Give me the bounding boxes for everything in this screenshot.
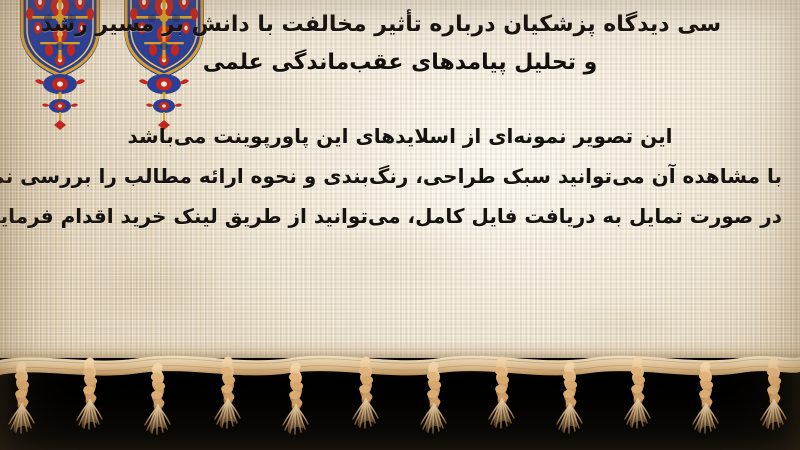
body-line-3: در صورت تمایل به دریافت فایل کامل، می‌تو… (18, 196, 782, 236)
title-line-2: و تحلیل پیامدهای عقب‌ماندگی علمی (14, 44, 786, 82)
knotted-tassel-fringe (0, 346, 800, 392)
presentation-slide: سی دیدگاه پزشکیان درباره تأثیر مخالفت با… (0, 0, 800, 450)
body-line-2: با مشاهده آن می‌توانید سبک طراحی، رنگ‌بن… (18, 156, 782, 196)
slide-title: سی دیدگاه پزشکیان درباره تأثیر مخالفت با… (0, 6, 800, 82)
title-line-1: سی دیدگاه پزشکیان درباره تأثیر مخالفت با… (14, 6, 748, 44)
slide-body: این تصویر نمونه‌ای از اسلایدهای این پاور… (0, 116, 800, 236)
body-line-1: این تصویر نمونه‌ای از اسلایدهای این پاور… (18, 116, 782, 156)
